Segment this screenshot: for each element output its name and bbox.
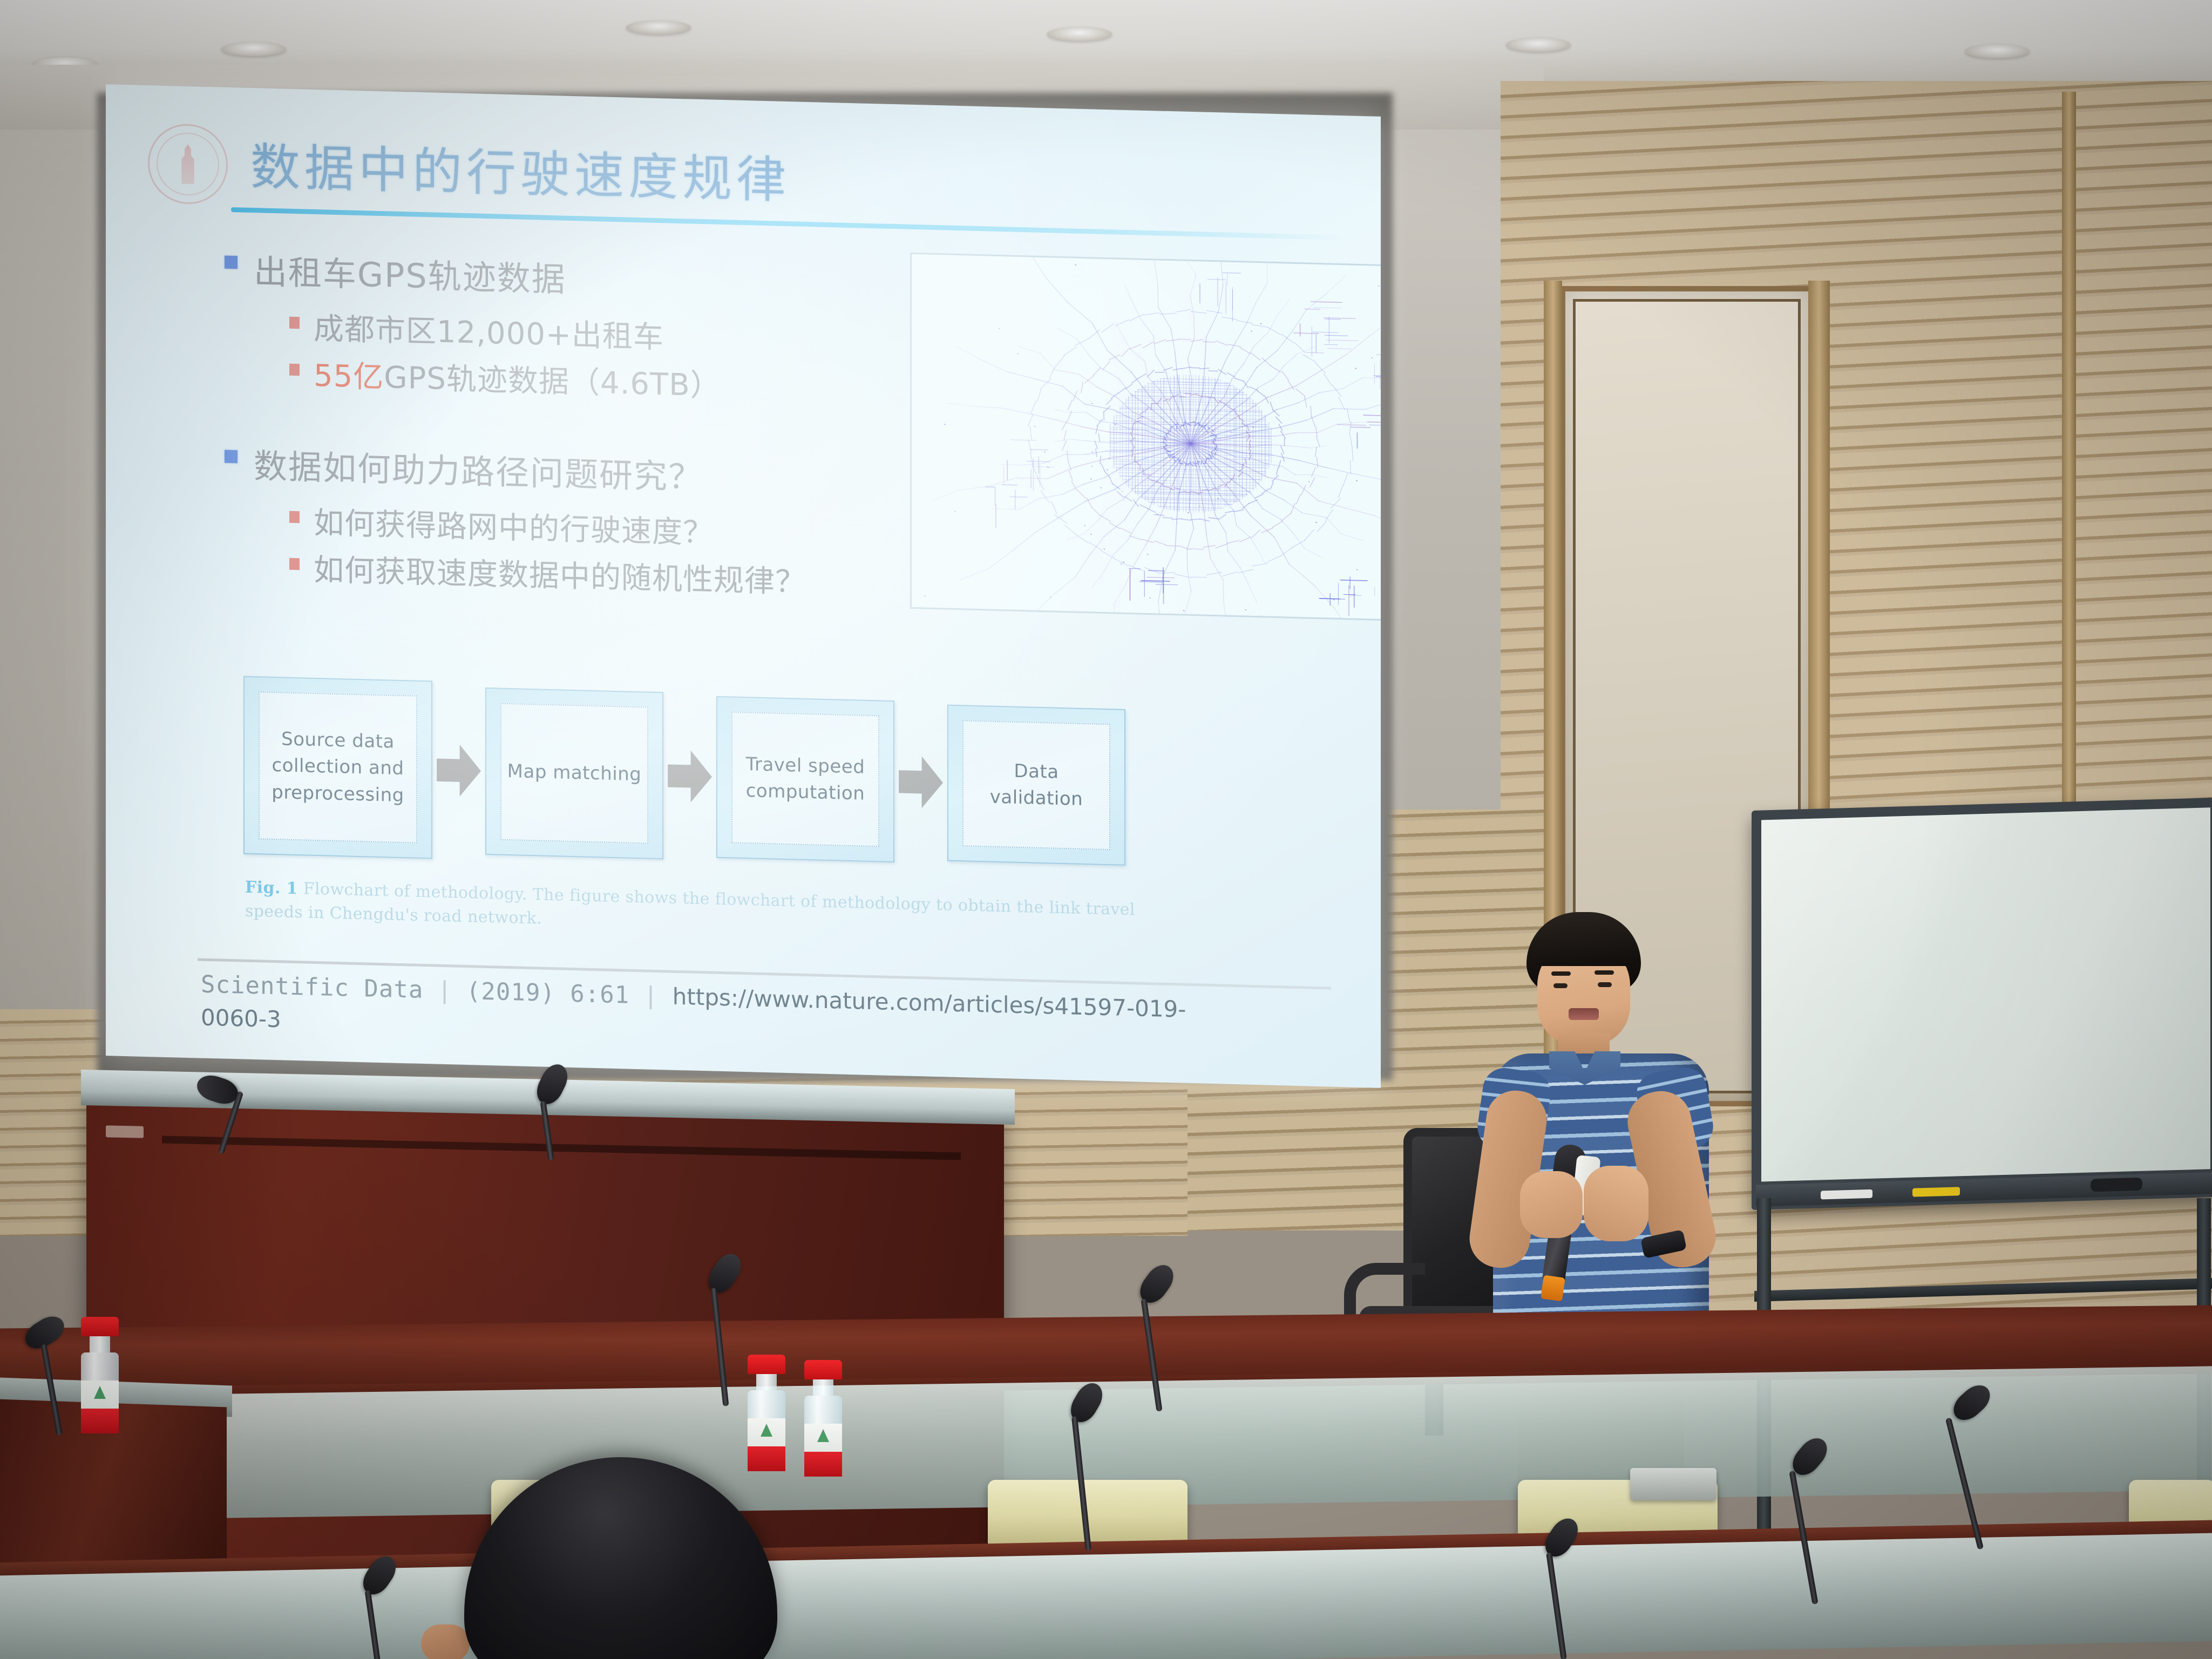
lecture-room-photo: 数据中的行驶速度规律 出租车GPS轨迹数据 成都市区12,000+出租车 55亿…: [0, 0, 2212, 1659]
bottle-neck: [756, 1374, 777, 1390]
flow-box: Source data collection and preprocessing: [243, 676, 432, 859]
footer-url[interactable]: https://www.nature.com/articles/s41597-0…: [673, 983, 1186, 1023]
bottle-label-red: [804, 1452, 842, 1477]
flow-box-inner: Travel speed computation: [731, 711, 879, 847]
ceiling-light-icon: [1047, 27, 1112, 41]
bullet-square-icon: [225, 256, 238, 269]
bottle-cap: [81, 1317, 119, 1336]
presenter-hand-right: [1584, 1166, 1648, 1241]
bullet-square-icon: [289, 317, 300, 329]
bullet-square-icon: [289, 364, 300, 376]
title-underline: [231, 207, 1343, 240]
bottle-neck: [90, 1336, 110, 1352]
flow-box-label: Travel speed computation: [736, 751, 875, 807]
arrow-right-icon: [668, 750, 712, 803]
arrow-right-icon: [437, 744, 481, 797]
flow-box-inner: Map matching: [500, 703, 648, 844]
whiteboard-eraser-icon[interactable]: [2091, 1178, 2142, 1192]
bottle-neck: [813, 1379, 833, 1396]
wall-post: [2062, 92, 2076, 804]
slide-footer: Scientific Data | (2019) 6:61 | https://…: [201, 971, 1381, 1029]
chengdu-gps-trajectory-map: [910, 253, 1381, 623]
flow-box-inner: Data validation: [962, 720, 1110, 850]
bullet-highlight: 55亿: [314, 358, 384, 395]
bottle-body: [81, 1352, 119, 1433]
presenter-eye: [1553, 983, 1568, 988]
bullet-text: 55亿GPS轨迹数据（4.6TB）: [314, 351, 721, 405]
bottle-cap: [748, 1355, 785, 1374]
bottle-label-white: [804, 1424, 842, 1454]
ceiling-light-icon: [626, 21, 691, 35]
slide-title: 数据中的行驶速度规律: [250, 127, 790, 212]
presenter-eyebrow: [1551, 971, 1571, 976]
microphone-tip: [1541, 1275, 1565, 1301]
projection-screen: 数据中的行驶速度规律 出租车GPS轨迹数据 成都市区12,000+出租车 55亿…: [106, 84, 1381, 1088]
figure-caption-tag: Fig. 1: [245, 878, 298, 898]
figure-caption-text: Flowchart of methodology. The figure sho…: [245, 879, 1135, 928]
bullet-square-icon: [225, 450, 238, 464]
bottle-label-white: [81, 1381, 119, 1411]
bullet-item-level1: 出租车GPS轨迹数据: [225, 244, 921, 310]
flow-box: Map matching: [485, 688, 663, 859]
bottle-cap: [804, 1360, 842, 1379]
flow-box: Data validation: [947, 705, 1125, 866]
flow-box-label: Source data collection and preprocessing: [263, 726, 413, 810]
whiteboard-glare: [1761, 807, 2210, 1181]
bullet-text-rest: GPS轨迹数据（4.6TB）: [384, 360, 721, 404]
presenter-mouth: [1569, 1008, 1599, 1020]
figure-caption: Fig. 1 Flowchart of methodology. The fig…: [245, 876, 1184, 947]
bottle-body: [748, 1390, 785, 1471]
methodology-flowchart: Source data collection and preprocessing…: [243, 668, 1291, 889]
receiver-device: [1630, 1468, 1716, 1500]
water-bottle[interactable]: [81, 1317, 119, 1433]
leaf-icon: [761, 1424, 772, 1437]
flow-box-label: Data validation: [967, 757, 1106, 813]
bullet-text: 如何获取速度数据中的随机性规律？: [314, 546, 806, 602]
footer-separator: |: [643, 982, 659, 1010]
bullet-square-icon: [289, 511, 300, 523]
marker-white-icon[interactable]: [1821, 1189, 1872, 1200]
leaf-icon: [817, 1429, 829, 1442]
footer-separator: |: [437, 977, 452, 1005]
ceiling-light-icon: [1506, 38, 1571, 52]
presenter-eyebrow: [1594, 970, 1614, 975]
presenter-hand-left: [1520, 1171, 1583, 1238]
bottle-label-red: [81, 1409, 119, 1433]
bullet-text: 成都市区12,000+出租车: [314, 304, 664, 357]
ceiling-light-icon: [1965, 44, 2030, 58]
bottle-label-red: [748, 1446, 785, 1471]
university-seal-logo: [148, 123, 228, 205]
seal-tower-icon: [177, 144, 199, 184]
whiteboard[interactable]: [1752, 798, 2212, 1210]
lectern-plaque: [106, 1125, 144, 1138]
presenter-fringe: [1529, 927, 1640, 966]
water-bottle[interactable]: [748, 1355, 785, 1471]
arrow-right-icon: [899, 756, 943, 808]
bullet-square-icon: [289, 558, 300, 570]
footer-url-wrap[interactable]: 0060-3: [201, 1004, 281, 1033]
bullet-text: 出租车GPS轨迹数据: [254, 244, 566, 301]
footer-journal: Scientific Data: [201, 971, 423, 1004]
footer-citation: (2019) 6:61: [466, 977, 629, 1009]
ceiling-light-icon: [221, 42, 286, 56]
bottle-body: [804, 1396, 842, 1477]
bottle-label-white: [748, 1418, 785, 1449]
audience-ear: [421, 1624, 470, 1659]
flow-box-label: Map matching: [507, 758, 642, 788]
marker-yellow-icon[interactable]: [1912, 1187, 1960, 1196]
bullet-text: 如何获得路网中的行驶速度？: [314, 499, 714, 553]
whiteboard-surface[interactable]: [1761, 807, 2210, 1181]
slide-bullet-list: 出租车GPS轨迹数据 成都市区12,000+出租车 55亿GPS轨迹数据（4.6…: [225, 244, 921, 608]
map-svg: [912, 254, 1381, 622]
flow-box: Travel speed computation: [716, 696, 894, 862]
flow-box-inner: Source data collection and preprocessing: [259, 691, 417, 843]
water-bottle[interactable]: [804, 1360, 842, 1477]
leaf-icon: [94, 1386, 106, 1399]
presenter-eye: [1598, 982, 1612, 987]
